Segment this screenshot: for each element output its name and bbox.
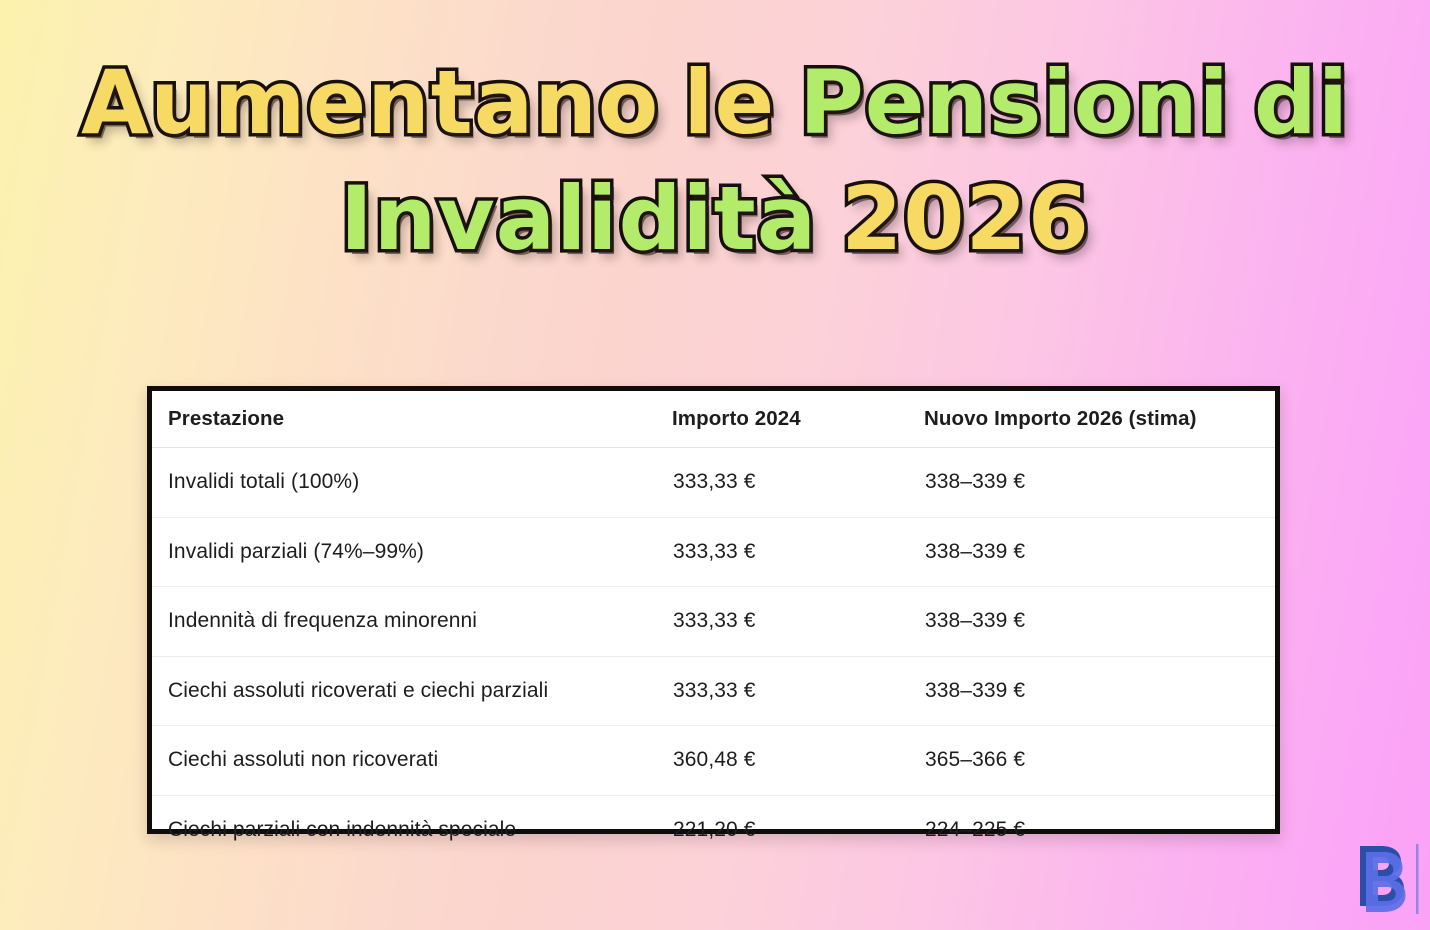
cell-importo-2024: 333,33 € [672, 656, 924, 726]
title-line-2: Invalidità2026 [0, 164, 1430, 274]
cell-prestazione: Ciechi parziali con indennità speciale [152, 795, 672, 864]
column-header-nuovo-importo-2026: Nuovo Importo 2026 (stima) [924, 391, 1275, 448]
cell-importo-2024: 360,48 € [672, 726, 924, 796]
cell-prestazione: Ciechi assoluti ricoverati e ciechi parz… [152, 656, 672, 726]
poster-canvas: AumentanolePensionidi Invalidità2026 Pre… [0, 0, 1430, 930]
table-row: Invalidi totali (100%) 333,33 € 338–339 … [152, 448, 1275, 518]
pension-amounts-table-card: Prestazione Importo 2024 Nuovo Importo 2… [147, 386, 1280, 834]
cell-importo-2026: 338–339 € [924, 656, 1275, 726]
title-word-aumentano: Aumentano [81, 48, 659, 158]
table-row: Ciechi parziali con indennità speciale 2… [152, 795, 1275, 864]
cell-prestazione: Ciechi assoluti non ricoverati [152, 726, 672, 796]
title-word-invalidita: Invalidità [340, 164, 817, 274]
cell-importo-2024: 221,20 € [672, 795, 924, 864]
table-row: Ciechi assoluti non ricoverati 360,48 € … [152, 726, 1275, 796]
brand-b-icon [1348, 838, 1422, 920]
table-row: Indennità di frequenza minorenni 333,33 … [152, 587, 1275, 657]
cell-importo-2026: 338–339 € [924, 517, 1275, 587]
table-body: Invalidi totali (100%) 333,33 € 338–339 … [152, 448, 1275, 865]
cell-importo-2024: 333,33 € [672, 587, 924, 657]
poster-title: AumentanolePensionidi Invalidità2026 [0, 48, 1430, 274]
cell-importo-2026: 224–225 € [924, 795, 1275, 864]
column-header-prestazione: Prestazione [152, 391, 672, 448]
title-word-pensioni: Pensioni [799, 48, 1230, 158]
brand-accent-bar [1416, 844, 1419, 914]
table-header: Prestazione Importo 2024 Nuovo Importo 2… [152, 391, 1275, 448]
title-word-2026: 2026 [841, 164, 1090, 274]
cell-importo-2026: 338–339 € [924, 448, 1275, 518]
brand-logo [1348, 838, 1422, 920]
cell-importo-2026: 338–339 € [924, 587, 1275, 657]
column-header-importo-2024: Importo 2024 [672, 391, 924, 448]
title-line-1: AumentanolePensionidi [0, 48, 1430, 158]
cell-importo-2024: 333,33 € [672, 448, 924, 518]
cell-importo-2024: 333,33 € [672, 517, 924, 587]
table-row: Ciechi assoluti ricoverati e ciechi parz… [152, 656, 1275, 726]
cell-prestazione: Invalidi totali (100%) [152, 448, 672, 518]
pension-amounts-table: Prestazione Importo 2024 Nuovo Importo 2… [152, 391, 1275, 864]
cell-prestazione: Indennità di frequenza minorenni [152, 587, 672, 657]
table-header-row: Prestazione Importo 2024 Nuovo Importo 2… [152, 391, 1275, 448]
cell-prestazione: Invalidi parziali (74%–99%) [152, 517, 672, 587]
cell-importo-2026: 365–366 € [924, 726, 1275, 796]
title-word-le: le [683, 48, 775, 158]
table-row: Invalidi parziali (74%–99%) 333,33 € 338… [152, 517, 1275, 587]
title-word-di: di [1254, 48, 1349, 158]
